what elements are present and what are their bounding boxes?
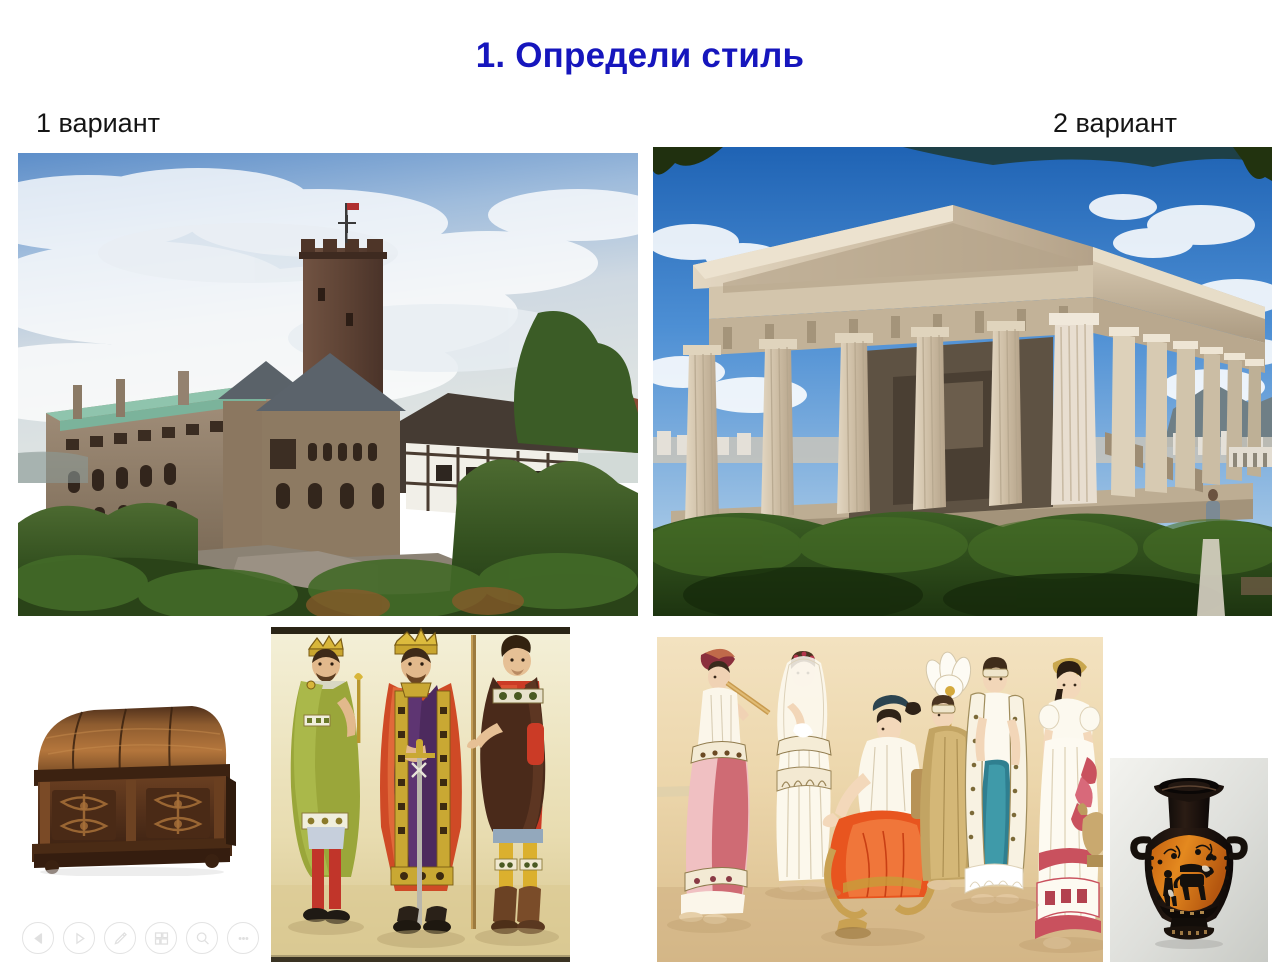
page-title: 1. Определи стиль [0, 36, 1280, 76]
variant-label-2: 2 вариант [1053, 108, 1177, 139]
medieval-costumes-illustration [271, 627, 570, 962]
triangle-left-icon [30, 930, 47, 947]
greek-black-figure-vase-photo [1110, 758, 1268, 962]
zoom-button[interactable] [186, 922, 218, 954]
grid-slides-icon [153, 930, 170, 947]
empire-style-costumes-illustration [657, 637, 1103, 962]
pen-tool-button[interactable] [104, 922, 136, 954]
romanesque-castle-photo [18, 153, 638, 616]
greek-doric-temple-photo [653, 147, 1272, 616]
all-slides-button[interactable] [145, 922, 177, 954]
magnifier-icon [194, 930, 211, 947]
slideshow-toolbar [22, 922, 259, 954]
presentation-slide: 1. Определи стиль 1 вариант 2 вариант [0, 0, 1280, 962]
carved-wooden-chest-photo [22, 694, 254, 876]
ellipsis-icon [235, 930, 252, 947]
variant-label-1: 1 вариант [36, 108, 160, 139]
more-options-button[interactable] [227, 922, 259, 954]
triangle-right-icon [71, 930, 88, 947]
pen-icon [112, 930, 129, 947]
play-slide-button[interactable] [63, 922, 95, 954]
previous-slide-button[interactable] [22, 922, 54, 954]
